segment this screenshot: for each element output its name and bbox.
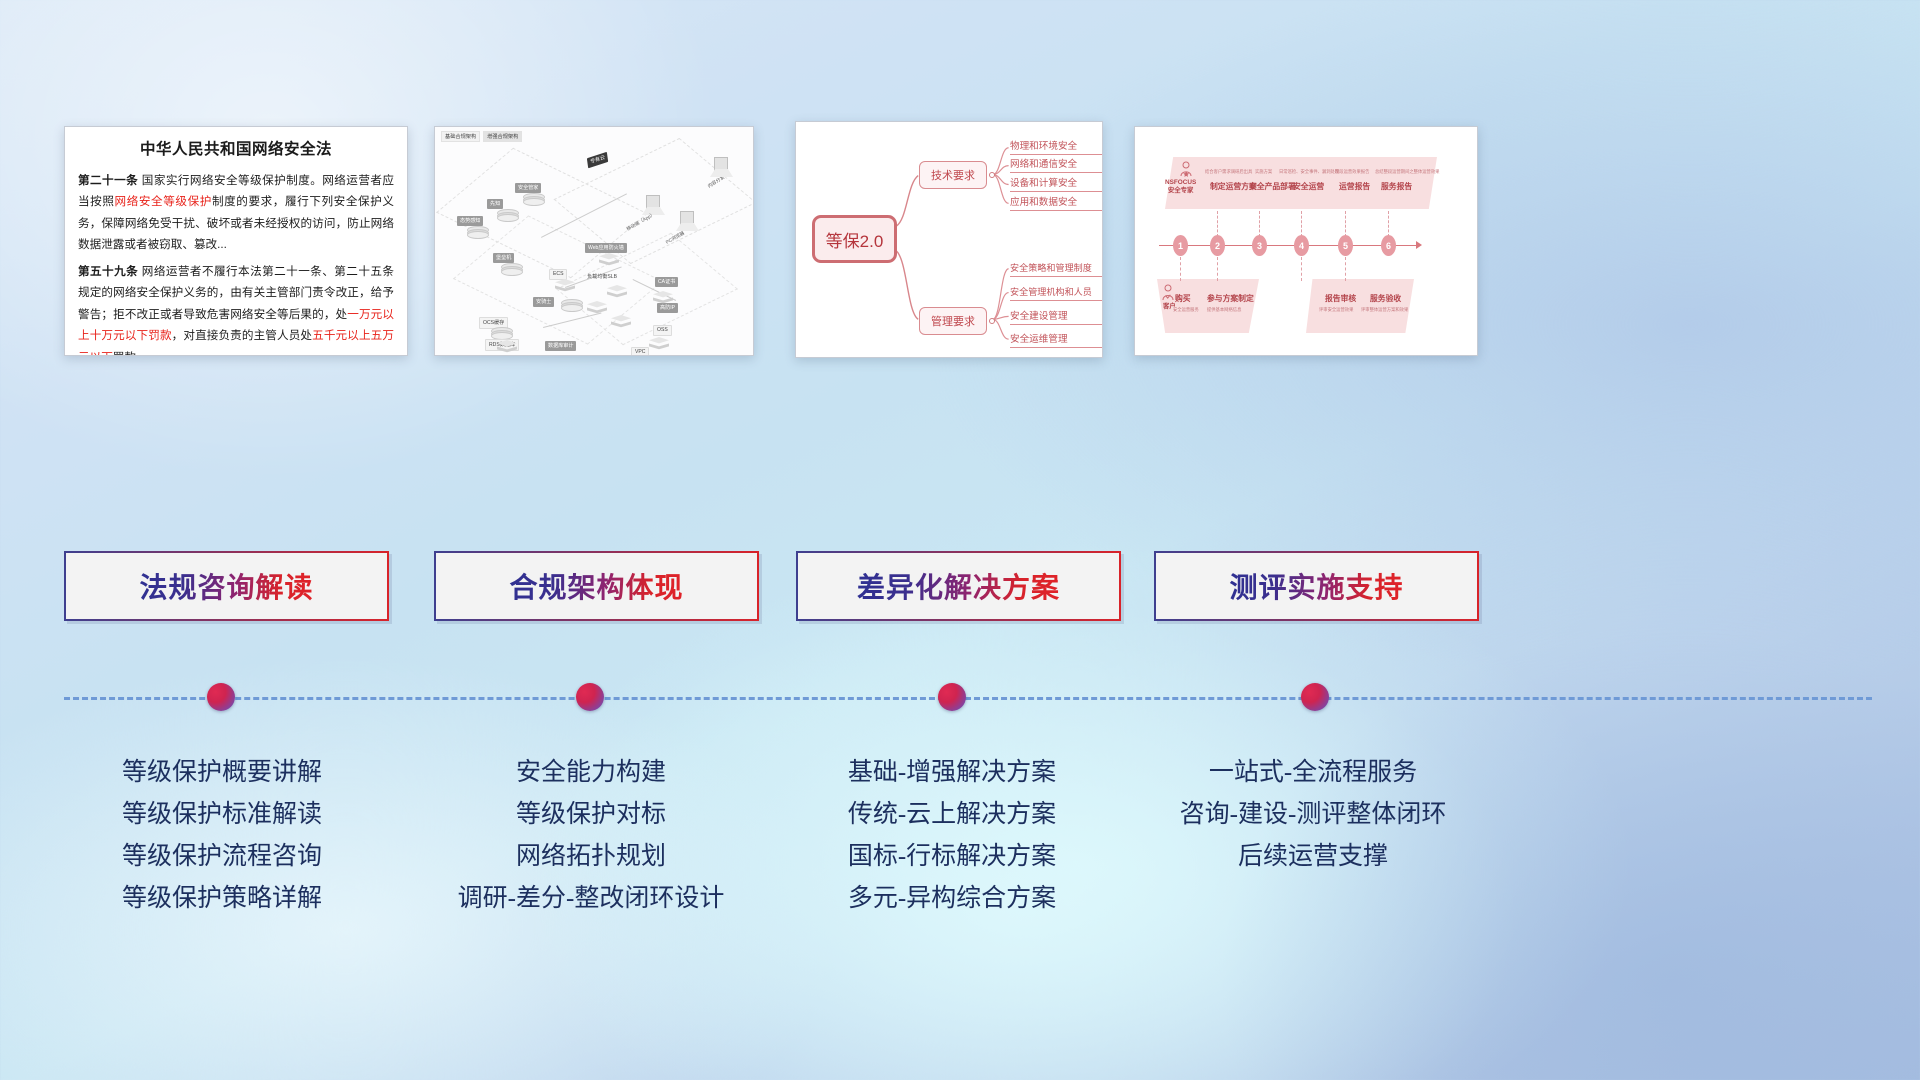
timeline-node-2[interactable] — [576, 683, 604, 711]
pillar-title-1: 法规咨询解读 — [139, 566, 313, 606]
timeline-dashed-line — [64, 697, 1872, 700]
pillar-item: 等级保护对标 — [421, 794, 761, 836]
pillar-title-box-4[interactable]: 测评实施支持 — [1154, 551, 1479, 621]
pillar-item: 调研-差分-整改闭环设计 — [421, 878, 761, 920]
pillar-items-2: 安全能力构建 等级保护对标 网络拓扑规划 调研-差分-整改闭环设计 — [421, 752, 761, 920]
pillar-title-box-2[interactable]: 合规架构体现 — [434, 551, 759, 621]
pillar-item: 国标-行标解决方案 — [782, 836, 1122, 878]
pillar-title-box-1[interactable]: 法规咨询解读 — [64, 551, 389, 621]
timeline-node-4[interactable] — [1301, 683, 1329, 711]
timeline-node-1[interactable] — [207, 683, 235, 711]
pillar-items-3: 基础-增强解决方案 传统-云上解决方案 国标-行标解决方案 多元-异构综合方案 — [782, 752, 1122, 920]
pillar-item: 网络拓扑规划 — [421, 836, 761, 878]
pillar-item: 传统-云上解决方案 — [782, 794, 1122, 836]
pillar-item: 一站式-全流程服务 — [1143, 752, 1483, 794]
pillar-title-box-3[interactable]: 差异化解决方案 — [796, 551, 1121, 621]
pillar-item: 安全能力构建 — [421, 752, 761, 794]
pillar-item: 等级保护标准解读 — [52, 794, 392, 836]
pillar-items-4: 一站式-全流程服务 咨询-建设-测评整体闭环 后续运营支撑 — [1143, 752, 1483, 878]
pillar-title-4: 测评实施支持 — [1229, 566, 1403, 606]
pillar-item: 基础-增强解决方案 — [782, 752, 1122, 794]
pillar-item: 等级保护概要讲解 — [52, 752, 392, 794]
pillar-item: 多元-异构综合方案 — [782, 878, 1122, 920]
timeline-node-3[interactable] — [938, 683, 966, 711]
pillar-item: 等级保护流程咨询 — [52, 836, 392, 878]
pillar-items-1: 等级保护概要讲解 等级保护标准解读 等级保护流程咨询 等级保护策略详解 — [52, 752, 392, 920]
pillar-title-2: 合规架构体现 — [509, 566, 683, 606]
pillar-title-3: 差异化解决方案 — [857, 566, 1060, 606]
pillar-item: 后续运营支撑 — [1143, 836, 1483, 878]
pillar-item: 咨询-建设-测评整体闭环 — [1143, 794, 1483, 836]
pillar-item: 等级保护策略详解 — [52, 878, 392, 920]
